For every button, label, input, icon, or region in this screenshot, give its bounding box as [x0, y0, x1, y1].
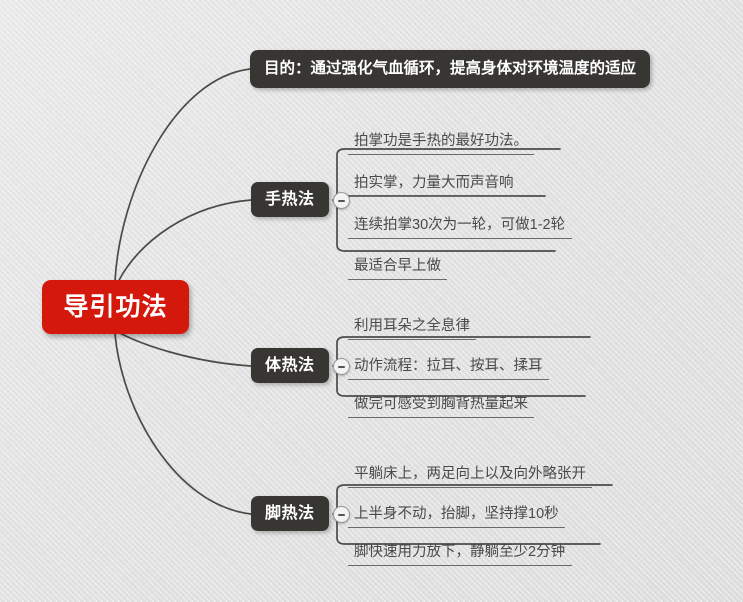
- leaf-label: 利用耳朵之全息律: [348, 316, 476, 339]
- branch-node-foot-heat[interactable]: 脚热法: [251, 496, 329, 531]
- leaf-underline: [348, 379, 549, 380]
- leaf-label: 动作流程：拉耳、按耳、揉耳: [348, 356, 549, 379]
- branch-node-body-heat-label: 体热法: [265, 358, 315, 374]
- branch-node-foot-heat-label: 脚热法: [265, 506, 315, 522]
- leaf-item[interactable]: 上半身不动，抬脚，坚持撑10秒: [348, 504, 565, 528]
- topic-node-purpose-label: 目的：通过强化气血循环，提高身体对环境温度的适应: [264, 61, 636, 77]
- leaf-item[interactable]: 连续拍掌30次为一轮，可做1-2轮: [348, 215, 572, 239]
- leaf-label: 脚快速用力放下，静躺至少2分钟: [348, 542, 572, 565]
- connector-root-to-body: [118, 332, 251, 366]
- collapse-toggle-hand-heat[interactable]: [333, 192, 350, 209]
- leaf-underline: [348, 154, 534, 155]
- mindmap-canvas[interactable]: 导引功法 目的：通过强化气血循环，提高身体对环境温度的适应 手热法 拍掌功是手热…: [0, 0, 743, 602]
- connector-root-to-hand: [118, 200, 251, 282]
- leaf-item[interactable]: 拍掌功是手热的最好功法。: [348, 131, 534, 155]
- collapse-toggle-foot-heat[interactable]: [333, 506, 350, 523]
- minus-icon: [338, 514, 345, 516]
- root-node[interactable]: 导引功法: [42, 280, 189, 334]
- leaf-underline: [348, 565, 572, 566]
- leaf-item[interactable]: 平躺床上，两足向上以及向外略张开: [348, 464, 592, 488]
- leaf-item[interactable]: 拍实掌，力量大而声音响: [348, 173, 520, 197]
- root-node-label: 导引功法: [63, 295, 167, 320]
- leaf-underline: [348, 527, 565, 528]
- leaf-label: 连续拍掌30次为一轮，可做1-2轮: [348, 215, 572, 238]
- leaf-label: 拍实掌，力量大而声音响: [348, 173, 520, 196]
- leaf-underline: [348, 279, 447, 280]
- leaf-item[interactable]: 最适合早上做: [348, 256, 447, 280]
- leaf-item[interactable]: 做完可感受到胸背热量起来: [348, 394, 534, 418]
- minus-icon: [338, 200, 345, 202]
- leaf-label: 最适合早上做: [348, 256, 447, 279]
- topic-node-purpose[interactable]: 目的：通过强化气血循环，提高身体对环境温度的适应: [250, 50, 650, 88]
- leaf-underline: [348, 339, 476, 340]
- leaf-underline: [348, 196, 520, 197]
- leaf-label: 平躺床上，两足向上以及向外略张开: [348, 464, 592, 487]
- minus-icon: [338, 366, 345, 368]
- connector-root-to-foot: [115, 334, 251, 514]
- collapse-toggle-body-heat[interactable]: [333, 358, 350, 375]
- leaf-label: 拍掌功是手热的最好功法。: [348, 131, 534, 154]
- leaf-label: 上半身不动，抬脚，坚持撑10秒: [348, 504, 565, 527]
- leaf-item[interactable]: 脚快速用力放下，静躺至少2分钟: [348, 542, 572, 566]
- leaf-underline: [348, 487, 592, 488]
- connector-root-to-purpose: [115, 69, 250, 281]
- leaf-item[interactable]: 利用耳朵之全息律: [348, 316, 476, 340]
- branch-node-hand-heat-label: 手热法: [265, 192, 315, 208]
- leaf-item[interactable]: 动作流程：拉耳、按耳、揉耳: [348, 356, 549, 380]
- leaf-underline: [348, 238, 572, 239]
- branch-node-body-heat[interactable]: 体热法: [251, 348, 329, 383]
- leaf-label: 做完可感受到胸背热量起来: [348, 394, 534, 417]
- leaf-underline: [348, 417, 534, 418]
- branch-node-hand-heat[interactable]: 手热法: [251, 182, 329, 217]
